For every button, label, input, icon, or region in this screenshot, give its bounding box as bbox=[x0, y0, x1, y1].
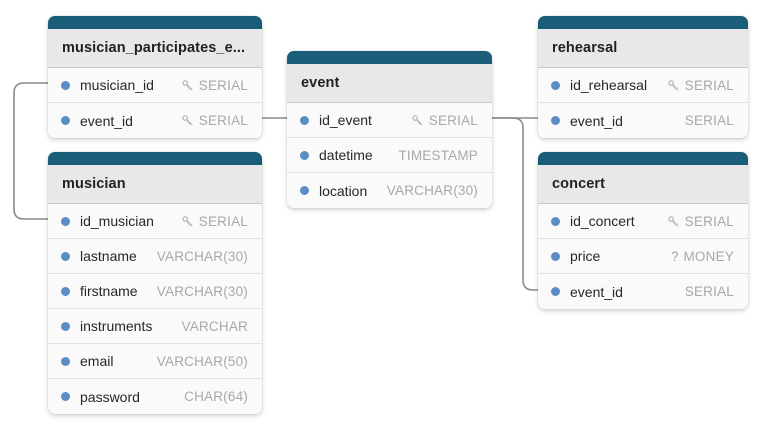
table-column-row[interactable]: price?MONEY bbox=[538, 239, 748, 274]
table-column-row[interactable]: id_rehearsalSERIAL bbox=[538, 68, 748, 103]
bullet-icon bbox=[61, 322, 70, 331]
column-type: VARCHAR bbox=[182, 319, 248, 334]
bullet-icon bbox=[61, 217, 70, 226]
bullet-icon bbox=[551, 81, 560, 90]
table-column-row[interactable]: instrumentsVARCHAR bbox=[48, 309, 262, 344]
column-meta: CHAR(64) bbox=[184, 389, 248, 404]
bullet-icon bbox=[61, 252, 70, 261]
bullet-icon bbox=[300, 186, 309, 195]
column-type: MONEY bbox=[683, 249, 734, 264]
column-name: id_rehearsal bbox=[570, 77, 647, 93]
bullet-icon bbox=[551, 287, 560, 296]
table-column-row[interactable]: firstnameVARCHAR(30) bbox=[48, 274, 262, 309]
table-header-bar bbox=[48, 16, 262, 29]
column-meta: SERIAL bbox=[411, 113, 478, 128]
key-icon bbox=[667, 215, 680, 228]
column-name: lastname bbox=[80, 248, 137, 264]
table-column-row[interactable]: locationVARCHAR(30) bbox=[287, 173, 492, 208]
table-column-row[interactable]: event_idSERIAL bbox=[538, 274, 748, 309]
column-type: TIMESTAMP bbox=[398, 148, 478, 163]
column-type: SERIAL bbox=[429, 113, 478, 128]
column-meta: SERIAL bbox=[181, 113, 248, 128]
table-column-row[interactable]: lastnameVARCHAR(30) bbox=[48, 239, 262, 274]
table-header-bar bbox=[538, 16, 748, 29]
table-column-row[interactable]: passwordCHAR(64) bbox=[48, 379, 262, 414]
column-type: SERIAL bbox=[685, 78, 734, 93]
bullet-icon bbox=[551, 217, 560, 226]
key-icon bbox=[181, 215, 194, 228]
table-header-bar bbox=[538, 152, 748, 165]
column-meta: SERIAL bbox=[667, 214, 734, 229]
column-name: event_id bbox=[80, 113, 133, 129]
column-meta: SERIAL bbox=[685, 284, 734, 299]
column-name: event_id bbox=[570, 113, 623, 129]
column-meta: VARCHAR(30) bbox=[387, 183, 478, 198]
table-column-row[interactable]: id_musicianSERIAL bbox=[48, 204, 262, 239]
table-title: event bbox=[287, 64, 492, 103]
column-meta: VARCHAR(50) bbox=[157, 354, 248, 369]
column-meta: TIMESTAMP bbox=[398, 148, 478, 163]
bullet-icon bbox=[300, 116, 309, 125]
column-type: SERIAL bbox=[199, 113, 248, 128]
bullet-icon bbox=[61, 81, 70, 90]
column-type: SERIAL bbox=[685, 113, 734, 128]
table-node-musician[interactable]: musicianid_musicianSERIALlastnameVARCHAR… bbox=[48, 152, 262, 414]
table-title: musician_participates_e... bbox=[48, 29, 262, 68]
key-icon bbox=[411, 114, 424, 127]
key-icon bbox=[181, 79, 194, 92]
bullet-icon bbox=[61, 392, 70, 401]
column-meta: SERIAL bbox=[667, 78, 734, 93]
table-node-event[interactable]: eventid_eventSERIALdatetimeTIMESTAMPloca… bbox=[287, 51, 492, 208]
column-type: VARCHAR(50) bbox=[157, 354, 248, 369]
column-name: event_id bbox=[570, 284, 623, 300]
column-meta: ?MONEY bbox=[671, 249, 734, 264]
bullet-icon bbox=[61, 116, 70, 125]
table-header-bar bbox=[48, 152, 262, 165]
table-column-row[interactable]: id_eventSERIAL bbox=[287, 103, 492, 138]
column-type: SERIAL bbox=[199, 214, 248, 229]
table-title: rehearsal bbox=[538, 29, 748, 68]
column-name: id_event bbox=[319, 112, 372, 128]
column-type: SERIAL bbox=[685, 214, 734, 229]
column-type: CHAR(64) bbox=[184, 389, 248, 404]
table-column-row[interactable]: event_idSERIAL bbox=[48, 103, 262, 138]
table-column-row[interactable]: datetimeTIMESTAMP bbox=[287, 138, 492, 173]
column-meta: VARCHAR bbox=[182, 319, 248, 334]
column-type: SERIAL bbox=[199, 78, 248, 93]
column-name: price bbox=[570, 248, 600, 264]
table-column-row[interactable]: musician_idSERIAL bbox=[48, 68, 262, 103]
column-name: id_concert bbox=[570, 213, 635, 229]
relationship-edge-musician-to-participates bbox=[14, 83, 48, 219]
column-meta: VARCHAR(30) bbox=[157, 249, 248, 264]
er-diagram-canvas: musician_participates_e...musician_idSER… bbox=[0, 0, 767, 431]
column-name: password bbox=[80, 389, 140, 405]
column-type: VARCHAR(30) bbox=[157, 284, 248, 299]
table-node-musician_participates_event[interactable]: musician_participates_e...musician_idSER… bbox=[48, 16, 262, 138]
table-column-row[interactable]: emailVARCHAR(50) bbox=[48, 344, 262, 379]
table-node-rehearsal[interactable]: rehearsalid_rehearsalSERIALevent_idSERIA… bbox=[538, 16, 748, 138]
bullet-icon bbox=[61, 357, 70, 366]
table-title: concert bbox=[538, 165, 748, 204]
column-name: datetime bbox=[319, 147, 373, 163]
column-name: firstname bbox=[80, 283, 138, 299]
bullet-icon bbox=[300, 151, 309, 160]
table-node-concert[interactable]: concertid_concertSERIALprice?MONEYevent_… bbox=[538, 152, 748, 309]
nullable-icon: ? bbox=[671, 249, 679, 264]
table-column-row[interactable]: event_idSERIAL bbox=[538, 103, 748, 138]
column-name: instruments bbox=[80, 318, 152, 334]
column-type: SERIAL bbox=[685, 284, 734, 299]
column-name: id_musician bbox=[80, 213, 154, 229]
column-name: email bbox=[80, 353, 113, 369]
table-title: musician bbox=[48, 165, 262, 204]
bullet-icon bbox=[551, 116, 560, 125]
column-meta: VARCHAR(30) bbox=[157, 284, 248, 299]
key-icon bbox=[181, 114, 194, 127]
column-name: location bbox=[319, 183, 367, 199]
bullet-icon bbox=[551, 252, 560, 261]
key-icon bbox=[667, 79, 680, 92]
column-meta: SERIAL bbox=[685, 113, 734, 128]
relationship-edge-event-to-concert bbox=[492, 118, 538, 290]
column-type: VARCHAR(30) bbox=[157, 249, 248, 264]
column-type: VARCHAR(30) bbox=[387, 183, 478, 198]
bullet-icon bbox=[61, 287, 70, 296]
table-column-row[interactable]: id_concertSERIAL bbox=[538, 204, 748, 239]
column-meta: SERIAL bbox=[181, 78, 248, 93]
column-meta: SERIAL bbox=[181, 214, 248, 229]
column-name: musician_id bbox=[80, 77, 154, 93]
table-header-bar bbox=[287, 51, 492, 64]
